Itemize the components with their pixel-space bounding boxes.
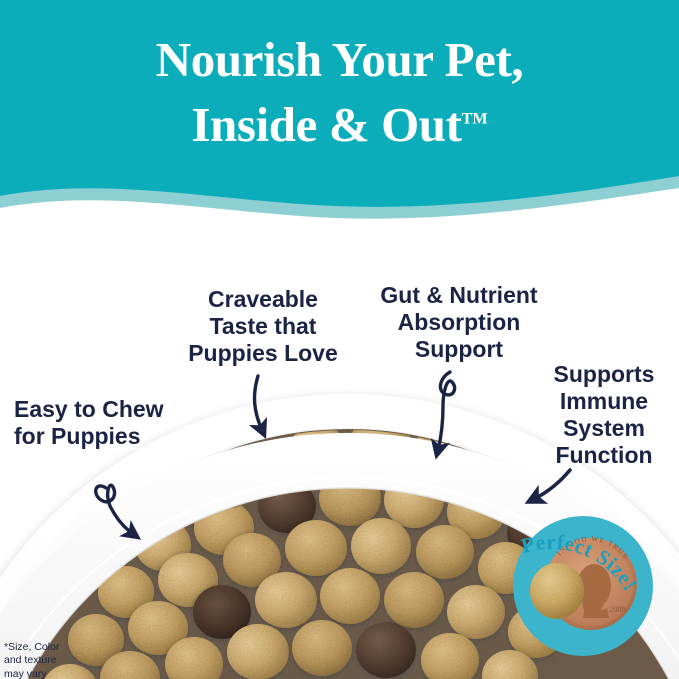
callout-craveable-line-2: Taste that: [167, 313, 359, 340]
callout-craveable-line-3: Puppies Love: [167, 340, 359, 367]
disclaimer-line-1: *Size, Color: [4, 641, 59, 654]
callout-gut-line-2: Absorption: [368, 309, 550, 336]
callout-craveable-line-1: Craveable: [167, 286, 359, 313]
callout-easy-to-chew-line-1: Easy to Chew: [14, 396, 164, 423]
callout-immune-line-4: Function: [540, 442, 668, 469]
callout-easy-to-chew-line-2: for Puppies: [14, 423, 164, 450]
badge-kibble: [530, 563, 584, 619]
page-title: Nourish Your Pet, Inside & OutTM: [0, 28, 679, 157]
callout-craveable-taste: Craveable Taste that Puppies Love: [167, 286, 359, 367]
trademark-symbol: TM: [462, 110, 488, 127]
disclaimer-text: *Size, Color and texture may vary: [4, 641, 59, 679]
callout-gut-line-3: Support: [368, 336, 550, 363]
infographic-page: Nourish Your Pet, Inside & OutTM Easy to…: [0, 0, 679, 679]
callout-gut-line-1: Gut & Nutrient: [368, 282, 550, 309]
title-line-2-text: Inside & Out: [191, 97, 461, 152]
callout-immune-line-3: System: [540, 415, 668, 442]
perfect-size-badge: IN GOD WE TRUST 2008 Perfect Size!: [499, 494, 679, 679]
title-line-1: Nourish Your Pet,: [0, 28, 679, 93]
callout-gut-nutrient-absorption: Gut & Nutrient Absorption Support: [368, 282, 550, 363]
callout-easy-to-chew: Easy to Chew for Puppies: [14, 396, 164, 450]
callout-immune-support: Supports Immune System Function: [540, 361, 668, 469]
penny-year: 2008: [609, 604, 626, 614]
disclaimer-line-3: may vary: [4, 668, 59, 679]
title-line-2: Inside & OutTM: [0, 93, 679, 158]
callout-immune-line-2: Immune: [540, 388, 668, 415]
callout-immune-line-1: Supports: [540, 361, 668, 388]
disclaimer-line-2: and texture: [4, 654, 59, 667]
